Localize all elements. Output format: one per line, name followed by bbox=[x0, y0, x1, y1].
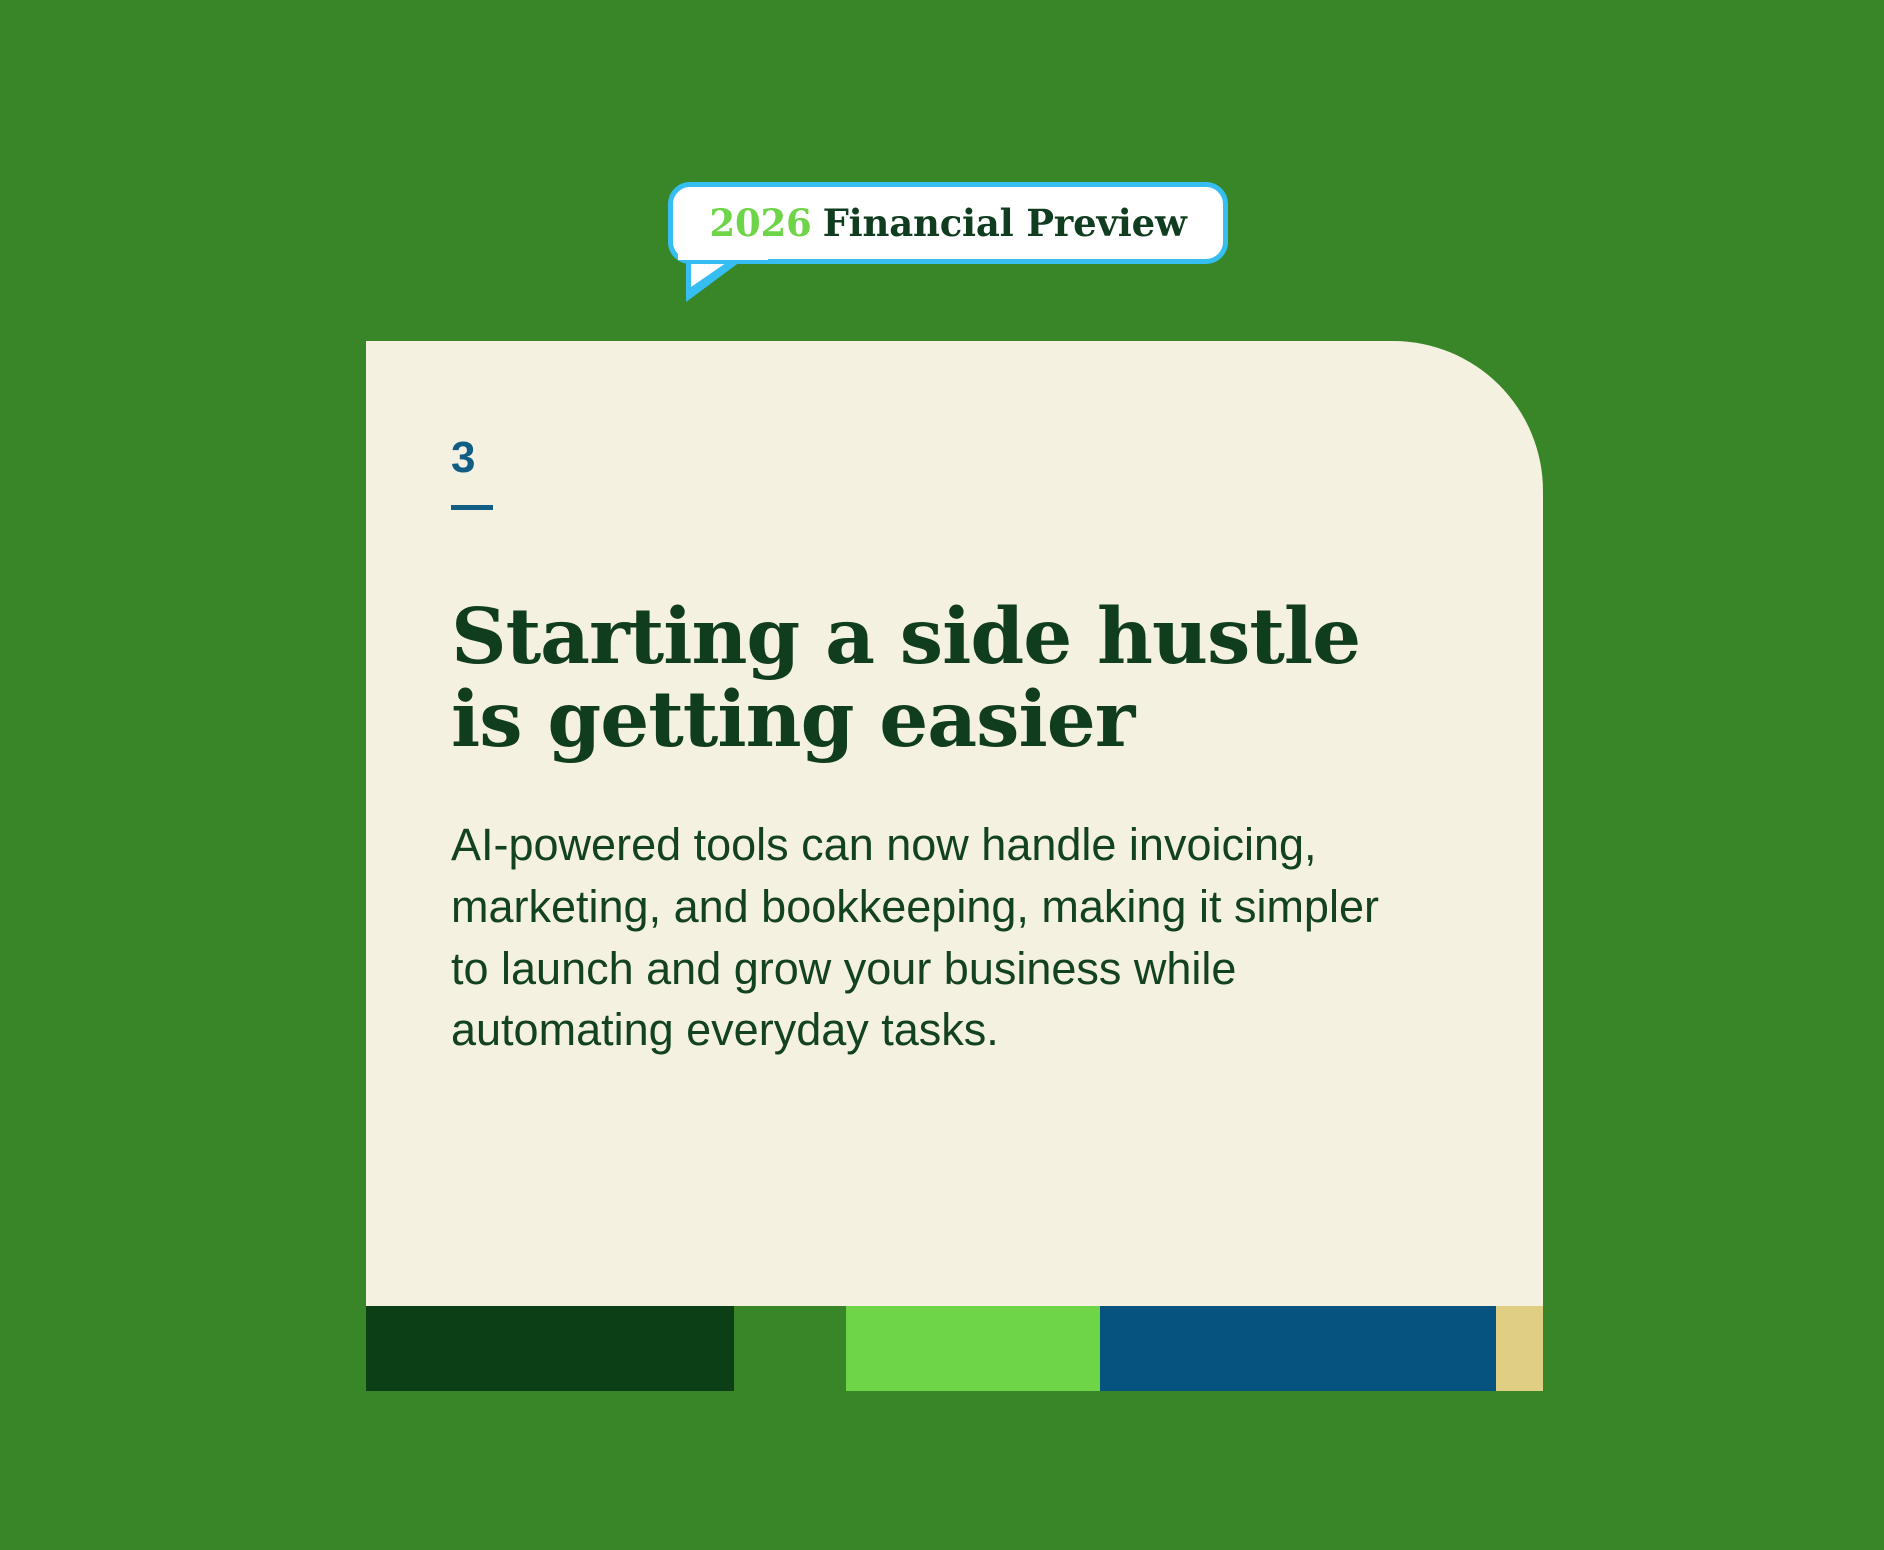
badge-tail-cover bbox=[678, 248, 768, 260]
color-swatch-bright-green bbox=[846, 1306, 1100, 1391]
slide-canvas: 2026 Financial Preview 3 Starting a side… bbox=[0, 0, 1884, 1550]
color-swatch-tan bbox=[1496, 1306, 1543, 1391]
badge-label-text: Financial Preview bbox=[823, 205, 1187, 242]
badge-year-text: 2026 bbox=[709, 205, 811, 242]
color-bar bbox=[366, 1306, 1543, 1391]
color-swatch-mid-green bbox=[734, 1306, 846, 1391]
eyebrow-rule bbox=[451, 505, 493, 510]
badge-container: 2026 Financial Preview bbox=[668, 182, 1228, 302]
color-swatch-blue bbox=[1100, 1306, 1496, 1391]
card-content: 3 Starting a side hustle is getting easi… bbox=[451, 436, 1473, 1061]
content-card: 3 Starting a side hustle is getting easi… bbox=[366, 341, 1543, 1306]
headline: Starting a side hustle is getting easier bbox=[451, 596, 1473, 762]
body-copy: AI-powered tools can now handle invoicin… bbox=[451, 814, 1411, 1061]
color-swatch-dark-green bbox=[366, 1306, 734, 1391]
item-number: 3 bbox=[451, 436, 1473, 480]
